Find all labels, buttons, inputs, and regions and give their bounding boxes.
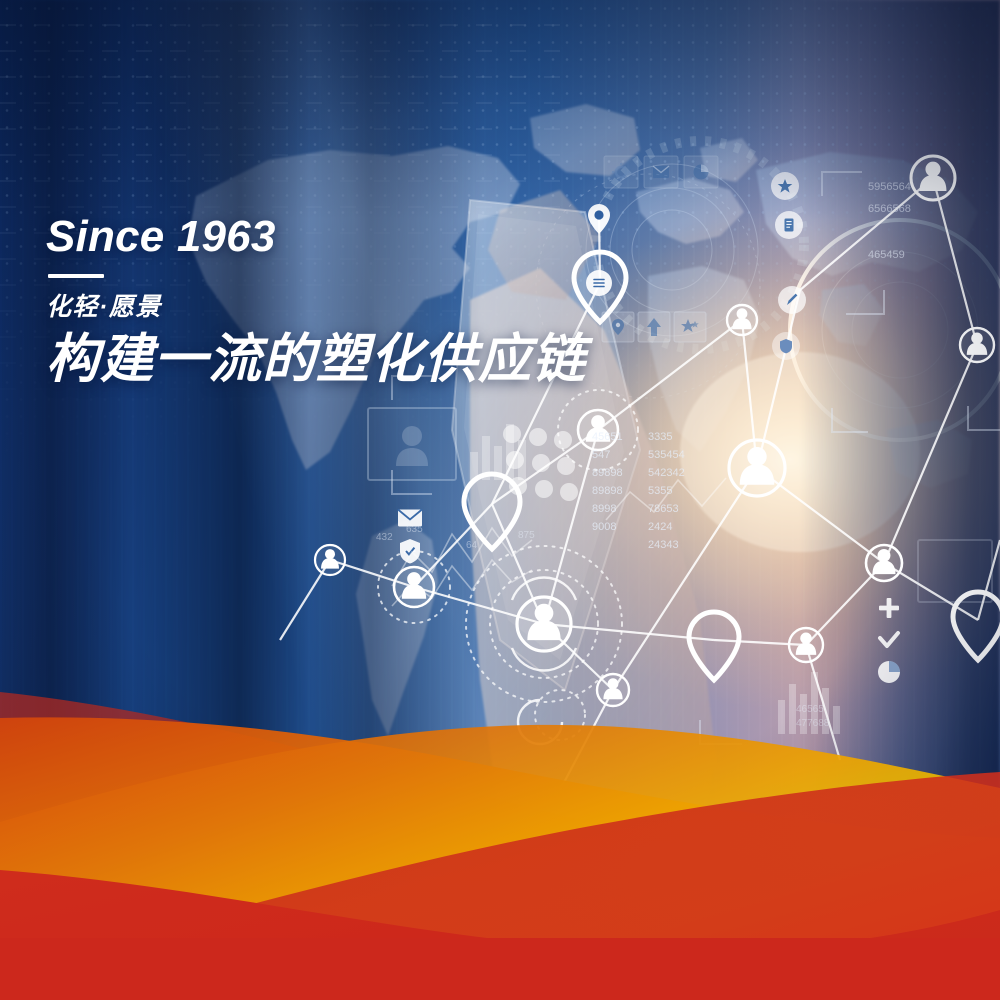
wave-red-fill [0, 938, 1000, 1000]
headline-block: Since 1963 化轻·愿景 构建一流的塑化供应链 [46, 214, 586, 389]
since-label: Since 1963 [46, 214, 586, 260]
headline-subtitle: 化轻·愿景 [46, 287, 586, 323]
bottom-wave-decoration [0, 670, 1000, 1000]
promo-banner: 45651547 8989889898 89989008 3335535454 … [0, 0, 1000, 1000]
headline-divider [48, 274, 104, 278]
headline-title: 构建一流的塑化供应链 [46, 330, 586, 389]
